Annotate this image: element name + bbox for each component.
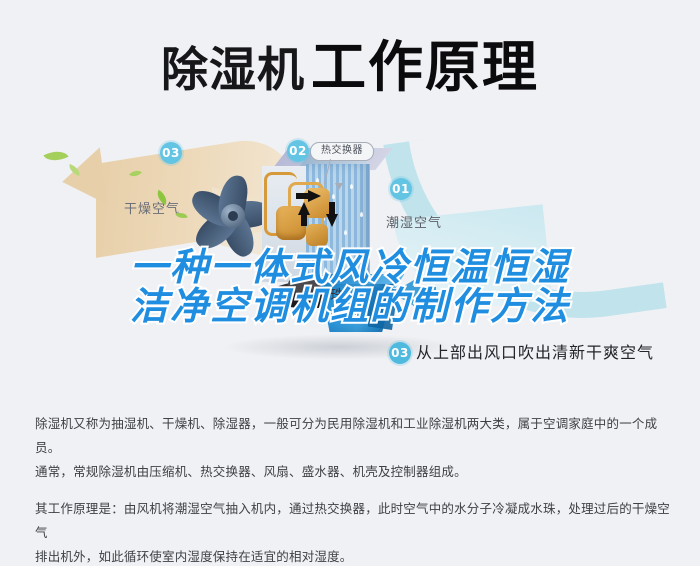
callout-leader-tip-icon (335, 183, 343, 190)
condense-label: 成水珠 (300, 285, 345, 305)
dehumidifier-diagram: 干燥空气 (0, 120, 700, 390)
badge-03-outlet: 03 (389, 342, 411, 364)
outlet-description-label: 从上部出风口吹出清新干爽空气 (416, 339, 654, 363)
badge-02-heat-exchanger: 02 (287, 140, 309, 162)
badge-03-dry-air: 03 (160, 142, 182, 164)
description-paragraph-1: 除湿机又称为抽湿机、干燥机、除湿器，一般可分为民用除湿机和工业除湿机两大类，属于… (35, 412, 675, 460)
humid-air-arrow-tail (408, 287, 436, 298)
dry-air-label: 干燥空气 (124, 198, 180, 217)
flow-arrow-down-icon (326, 214, 338, 227)
badge-01-humid-air: 01 (390, 178, 412, 200)
page-title-part1: 除湿机 (161, 43, 305, 98)
page-title-part2: 工作原理 (311, 35, 539, 99)
heat-exchanger-callout: 热交换器 (310, 142, 374, 161)
description-paragraph-4: 排出机外，如此循环使室内湿度保持在适宜的相对湿度。 (35, 545, 675, 566)
description-paragraph-2: 通常，常规除湿机由压缩机、热交换器、风扇、盛水器、机壳及控制器组成。 (35, 460, 675, 484)
infographic-page: 除湿机工作原理 干燥空气 (0, 0, 700, 566)
page-title: 除湿机工作原理 (0, 22, 700, 102)
heat-exchanger-callout-label: 热交换器 (311, 143, 373, 158)
compressor-part-icon (306, 224, 328, 246)
humid-air-label: 潮湿空气 (386, 212, 442, 231)
description-paragraph-3: 其工作原理是：由风机将潮湿空气抽入机内，通过热交换器，此时空气中的水分子冷凝成水… (35, 497, 675, 545)
flow-arrow-right-icon (308, 190, 321, 202)
description-text-block: 除湿机又称为抽湿机、干燥机、除湿器，一般可分为民用除湿机和工业除湿机两大类，属于… (35, 412, 675, 566)
